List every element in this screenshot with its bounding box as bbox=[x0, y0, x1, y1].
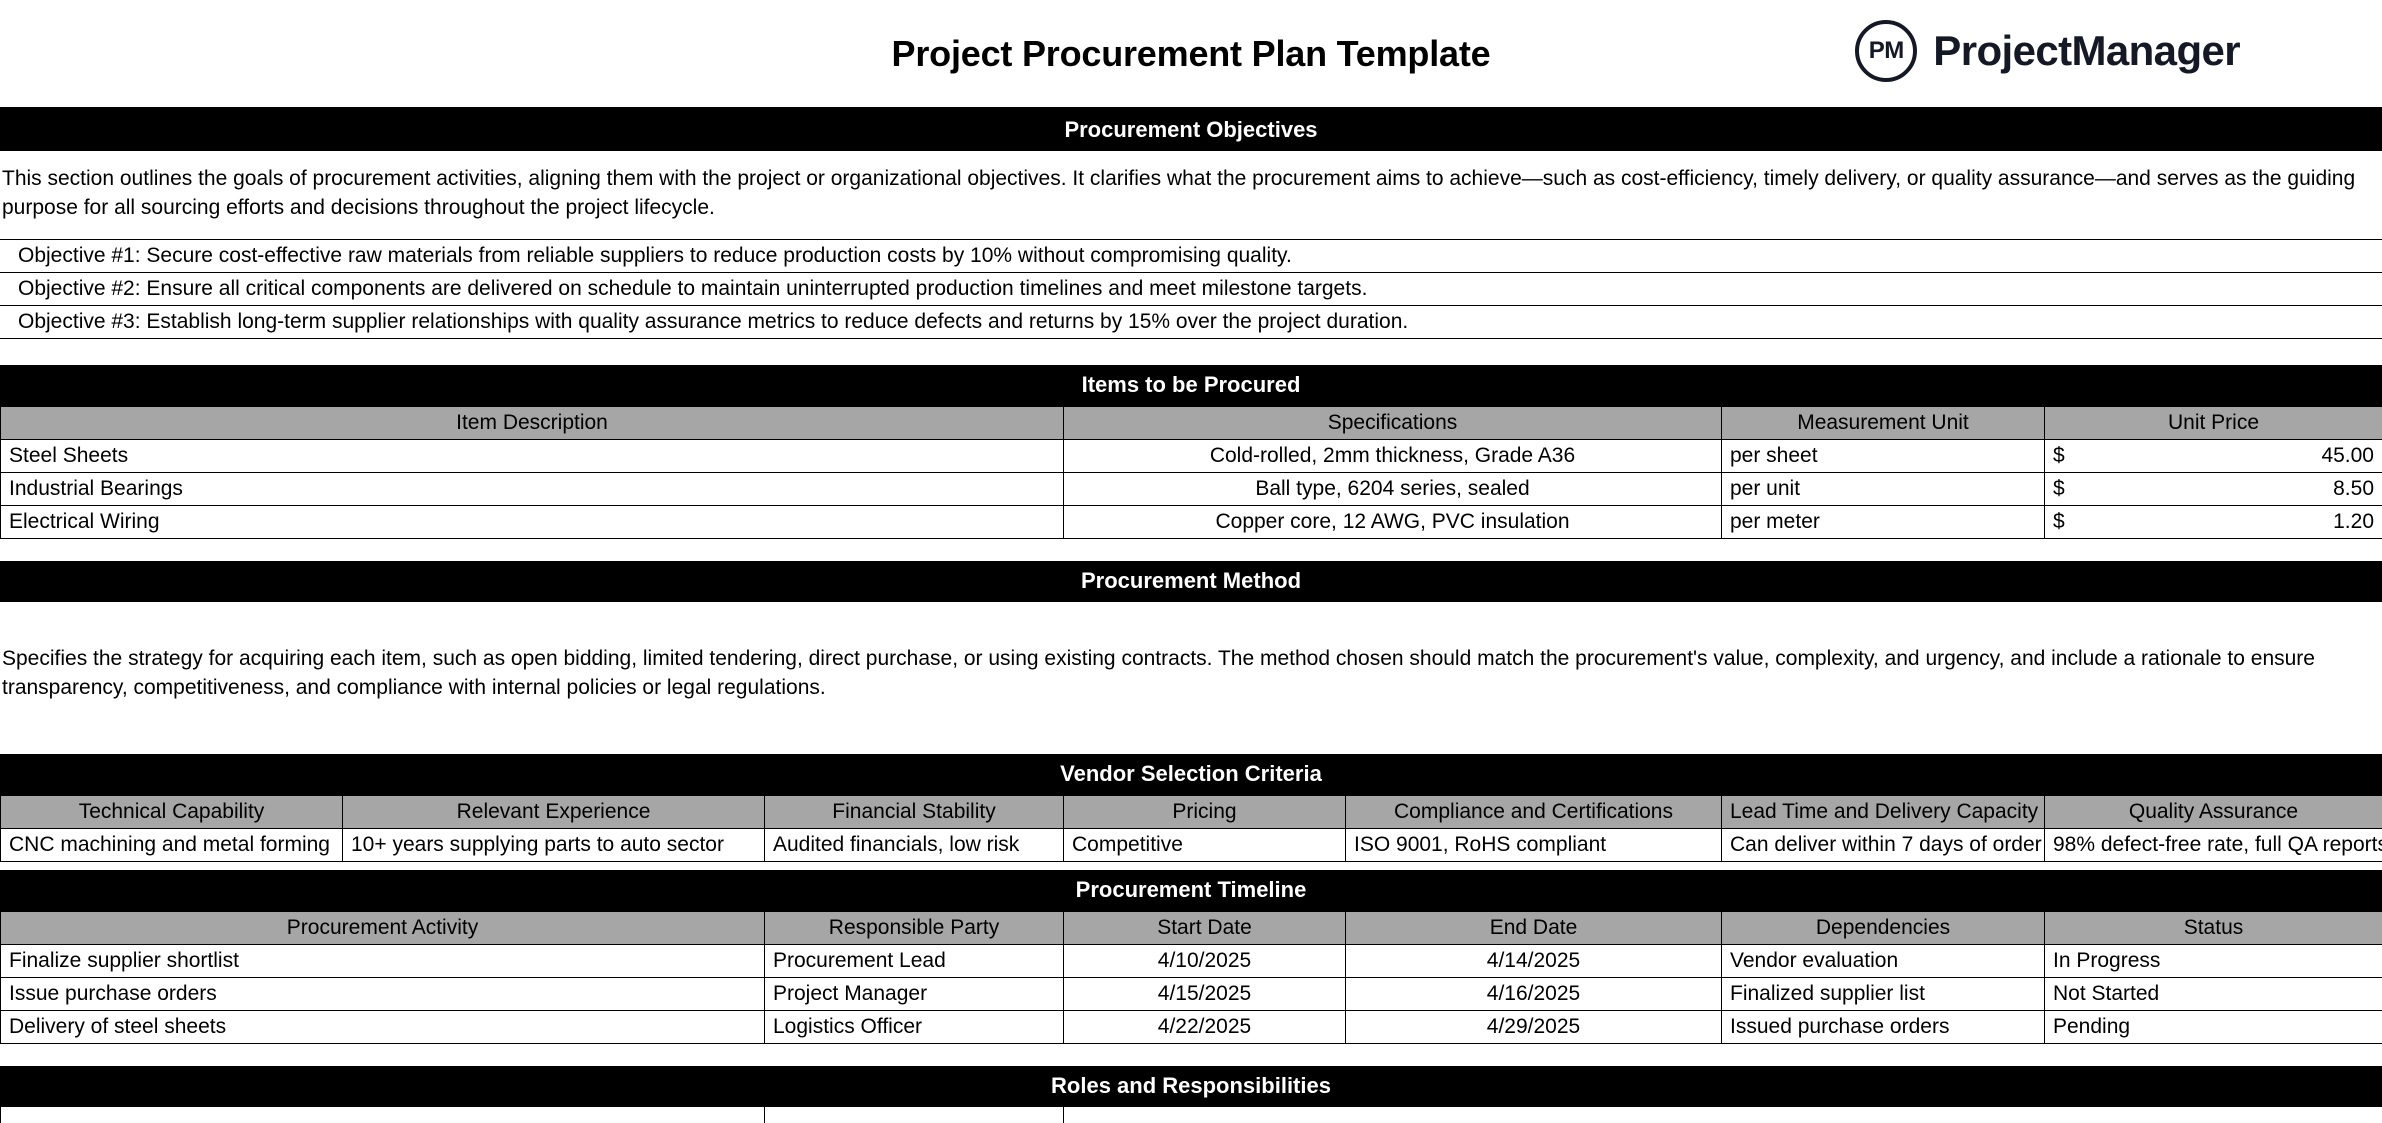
spacer bbox=[0, 862, 2382, 870]
cell-item-description: Industrial Bearings bbox=[1, 473, 1064, 506]
section-band-procurement-method: Procurement Method bbox=[0, 561, 2382, 602]
cell-end-date: 4/29/2025 bbox=[1346, 1011, 1722, 1044]
column-header-item-description: Item Description bbox=[1, 407, 1064, 440]
cell-measurement-unit: per unit bbox=[1722, 473, 2045, 506]
section-band-procurement-timeline: Procurement Timeline bbox=[0, 870, 2382, 911]
cell-dependencies: Issued purchase orders bbox=[1722, 1011, 2045, 1044]
column-header-end-date: End Date bbox=[1346, 912, 1722, 945]
procurement-objectives-description: This section outlines the goals of procu… bbox=[0, 151, 2382, 230]
table-header-row: Item Description Specifications Measurem… bbox=[1, 407, 2382, 440]
table-row: CNC machining and metal forming 10+ year… bbox=[1, 829, 2382, 862]
objective-item: Objective #2: Ensure all critical compon… bbox=[0, 273, 2382, 306]
cell-responsible: Logistics Officer bbox=[765, 1011, 1064, 1044]
table-row: Delivery of steel sheets Logistics Offic… bbox=[1, 1011, 2382, 1044]
status-badge: Not Started bbox=[2045, 978, 2382, 1011]
table-header-row bbox=[1, 1107, 2382, 1123]
cell-lead-time: Can deliver within 7 days of order bbox=[1722, 829, 2045, 862]
column-header-specifications: Specifications bbox=[1064, 407, 1722, 440]
cell-responsible: Procurement Lead bbox=[765, 945, 1064, 978]
cell-dependencies: Finalized supplier list bbox=[1722, 978, 2045, 1011]
table-row: Finalize supplier shortlist Procurement … bbox=[1, 945, 2382, 978]
cell-item-description: Steel Sheets bbox=[1, 440, 1064, 473]
section-band-procurement-objectives: Procurement Objectives bbox=[0, 110, 2382, 151]
cell-dependencies: Vendor evaluation bbox=[1722, 945, 2045, 978]
cell-start-date: 4/15/2025 bbox=[1064, 978, 1346, 1011]
table-row: Electrical Wiring Copper core, 12 AWG, P… bbox=[1, 506, 2382, 539]
status-badge: Pending bbox=[2045, 1011, 2382, 1044]
table-row: Objective #3: Establish long-term suppli… bbox=[0, 306, 2382, 339]
cell-unit-price: $ 1.20 bbox=[2045, 506, 2382, 539]
column-header-status: Status bbox=[2045, 912, 2382, 945]
items-to-be-procured-table: Item Description Specifications Measurem… bbox=[0, 406, 2382, 539]
column-header-lead-time: Lead Time and Delivery Capacity bbox=[1722, 796, 2045, 829]
column-header-procurement-activity: Procurement Activity bbox=[1, 912, 765, 945]
column-header-start-date: Start Date bbox=[1064, 912, 1346, 945]
cell-start-date: 4/22/2025 bbox=[1064, 1011, 1346, 1044]
column-header-compliance: Compliance and Certifications bbox=[1346, 796, 1722, 829]
column-header-technical-capability: Technical Capability bbox=[1, 796, 343, 829]
section-band-roles-and-responsibilities: Roles and Responsibilities bbox=[0, 1066, 2382, 1107]
cell-end-date: 4/16/2025 bbox=[1346, 978, 1722, 1011]
column-header-dependencies: Dependencies bbox=[1722, 912, 2045, 945]
cell-activity: Issue purchase orders bbox=[1, 978, 765, 1011]
procurement-method-description: Specifies the strategy for acquiring eac… bbox=[0, 602, 2382, 740]
column-header-responsible-party: Responsible Party bbox=[765, 912, 1064, 945]
currency-symbol: $ bbox=[2053, 444, 2065, 468]
section-band-vendor-selection-criteria: Vendor Selection Criteria bbox=[0, 754, 2382, 795]
table-row: Steel Sheets Cold-rolled, 2mm thickness,… bbox=[1, 440, 2382, 473]
cell-pricing: Competitive bbox=[1064, 829, 1346, 862]
cell-compliance: ISO 9001, RoHS compliant bbox=[1346, 829, 1722, 862]
section-band-items-to-be-procured: Items to be Procured bbox=[0, 365, 2382, 406]
table-row: Objective #2: Ensure all critical compon… bbox=[0, 273, 2382, 306]
table-header-row: Procurement Activity Responsible Party S… bbox=[1, 912, 2382, 945]
pm-monogram: PM bbox=[1869, 39, 1904, 63]
status-badge: In Progress bbox=[2045, 945, 2382, 978]
cell-technical-capability: CNC machining and metal forming bbox=[1, 829, 343, 862]
unit-price-value: 8.50 bbox=[2333, 477, 2374, 501]
cell-responsible: Project Manager bbox=[765, 978, 1064, 1011]
column-header-quality-assurance: Quality Assurance bbox=[2045, 796, 2382, 829]
currency-symbol: $ bbox=[2053, 510, 2065, 534]
brand-name: ProjectManager bbox=[1933, 27, 2240, 75]
column-header-pricing: Pricing bbox=[1064, 796, 1346, 829]
spacer bbox=[0, 539, 2382, 561]
table-header-row: Technical Capability Relevant Experience… bbox=[1, 796, 2382, 829]
document-header: Project Procurement Plan Template PM Pro… bbox=[0, 0, 2382, 110]
column-header-measurement-unit: Measurement Unit bbox=[1722, 407, 2045, 440]
cell-start-date: 4/10/2025 bbox=[1064, 945, 1346, 978]
unit-price-value: 45.00 bbox=[2321, 444, 2374, 468]
cell-quality-assurance: 98% defect-free rate, full QA reports bbox=[2045, 829, 2382, 862]
vendor-selection-criteria-table: Technical Capability Relevant Experience… bbox=[0, 795, 2382, 862]
cell-activity: Delivery of steel sheets bbox=[1, 1011, 765, 1044]
cell-unit-price: $ 8.50 bbox=[2045, 473, 2382, 506]
spacer bbox=[0, 740, 2382, 754]
table-row: Issue purchase orders Project Manager 4/… bbox=[1, 978, 2382, 1011]
column-header-financial-stability: Financial Stability bbox=[765, 796, 1064, 829]
spacer bbox=[0, 1044, 2382, 1066]
pm-circle-icon: PM bbox=[1855, 20, 1917, 82]
cell-specifications: Ball type, 6204 series, sealed bbox=[1064, 473, 1722, 506]
spacer bbox=[0, 339, 2382, 365]
cell-activity: Finalize supplier shortlist bbox=[1, 945, 765, 978]
objectives-table: Objective #1: Secure cost-effective raw … bbox=[0, 239, 2382, 339]
cell-end-date: 4/14/2025 bbox=[1346, 945, 1722, 978]
cell-item-description: Electrical Wiring bbox=[1, 506, 1064, 539]
procurement-timeline-table: Procurement Activity Responsible Party S… bbox=[0, 911, 2382, 1044]
objective-item: Objective #3: Establish long-term suppli… bbox=[0, 306, 2382, 339]
column-header-unit-price: Unit Price bbox=[2045, 407, 2382, 440]
table-row: Objective #1: Secure cost-effective raw … bbox=[0, 240, 2382, 273]
objective-item: Objective #1: Secure cost-effective raw … bbox=[0, 240, 2382, 273]
cell-specifications: Cold-rolled, 2mm thickness, Grade A36 bbox=[1064, 440, 1722, 473]
currency-symbol: $ bbox=[2053, 477, 2065, 501]
roles-and-responsibilities-table bbox=[0, 1107, 2382, 1123]
cell-unit-price: $ 45.00 bbox=[2045, 440, 2382, 473]
brand-logo: PM ProjectManager bbox=[1855, 20, 2240, 82]
cell-specifications: Copper core, 12 AWG, PVC insulation bbox=[1064, 506, 1722, 539]
cell-measurement-unit: per sheet bbox=[1722, 440, 2045, 473]
unit-price-value: 1.20 bbox=[2333, 510, 2374, 534]
cell-relevant-experience: 10+ years supplying parts to auto sector bbox=[343, 829, 765, 862]
column-header-relevant-experience: Relevant Experience bbox=[343, 796, 765, 829]
cell-measurement-unit: per meter bbox=[1722, 506, 2045, 539]
cell-financial-stability: Audited financials, low risk bbox=[765, 829, 1064, 862]
table-row: Industrial Bearings Ball type, 6204 seri… bbox=[1, 473, 2382, 506]
